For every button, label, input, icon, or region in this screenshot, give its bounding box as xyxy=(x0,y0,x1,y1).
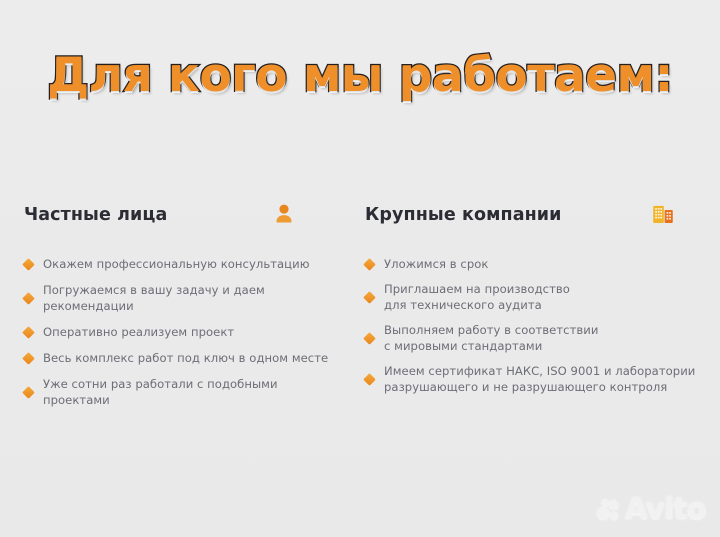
list-item: Выполняем работу в соответствии с мировы… xyxy=(365,322,702,354)
column-header-large-companies: Крупные компании xyxy=(365,204,702,238)
avito-logo-icon xyxy=(595,496,621,522)
list-item-text: Уложимся в срок xyxy=(384,256,488,272)
list-item-text: Окажем профессиональную консультацию xyxy=(43,256,310,272)
diamond-bullet-icon xyxy=(22,258,35,271)
list-item-text: Весь комплекс работ под ключ в одном мес… xyxy=(43,350,328,366)
avito-wordmark: Avito xyxy=(625,494,706,523)
bullet-list-large-companies: Уложимся в срок Приглашаем на производст… xyxy=(365,256,702,395)
diamond-bullet-icon xyxy=(363,291,376,304)
audience-columns: Частные лица Окажем профессиональную кон… xyxy=(0,204,720,424)
list-item: Уже сотни раз работали с подобными проек… xyxy=(24,376,337,408)
buildings-icon xyxy=(650,201,676,227)
diamond-bullet-icon xyxy=(363,332,376,345)
list-item-text: Уже сотни раз работали с подобными проек… xyxy=(43,376,337,408)
diamond-bullet-icon xyxy=(22,386,35,399)
list-item: Приглашаем на производство для техническ… xyxy=(365,281,702,313)
list-item: Имеем сертификат НАКС, ISO 9001 и лабора… xyxy=(365,363,702,395)
column-private-persons: Частные лица Окажем профессиональную кон… xyxy=(0,204,355,424)
column-header-private-persons: Частные лица xyxy=(24,204,337,238)
list-item: Весь комплекс работ под ключ в одном мес… xyxy=(24,350,337,366)
avito-watermark: Avito xyxy=(595,494,706,523)
diamond-bullet-icon xyxy=(22,326,35,339)
list-item-text: Оперативно реализуем проект xyxy=(43,324,234,340)
slide-canvas: Для кого мы работаем: Частные лица Окаже… xyxy=(0,0,720,537)
diamond-bullet-icon xyxy=(22,292,35,305)
bullet-list-private-persons: Окажем профессиональную консультацию Пог… xyxy=(24,256,337,408)
list-item: Погружаемся в вашу задачу и даем рекомен… xyxy=(24,282,337,314)
page-title-container: Для кого мы работаем: xyxy=(0,52,720,99)
column-title-private-persons: Частные лица xyxy=(24,204,167,226)
list-item-text: Выполняем работу в соответствии с мировы… xyxy=(384,322,598,354)
diamond-bullet-icon xyxy=(363,258,376,271)
list-item-text: Приглашаем на производство для техническ… xyxy=(384,281,570,313)
list-item: Оперативно реализуем проект xyxy=(24,324,337,340)
list-item-text: Погружаемся в вашу задачу и даем рекомен… xyxy=(43,282,337,314)
column-title-large-companies: Крупные компании xyxy=(365,204,562,226)
page-title: Для кого мы работаем: xyxy=(47,52,673,99)
list-item: Уложимся в срок xyxy=(365,256,702,272)
list-item: Окажем профессиональную консультацию xyxy=(24,256,337,272)
list-item-text: Имеем сертификат НАКС, ISO 9001 и лабора… xyxy=(384,363,695,395)
column-large-companies: Крупные компании xyxy=(355,204,720,411)
diamond-bullet-icon xyxy=(22,352,35,365)
diamond-bullet-icon xyxy=(363,373,376,386)
person-icon xyxy=(271,201,297,227)
